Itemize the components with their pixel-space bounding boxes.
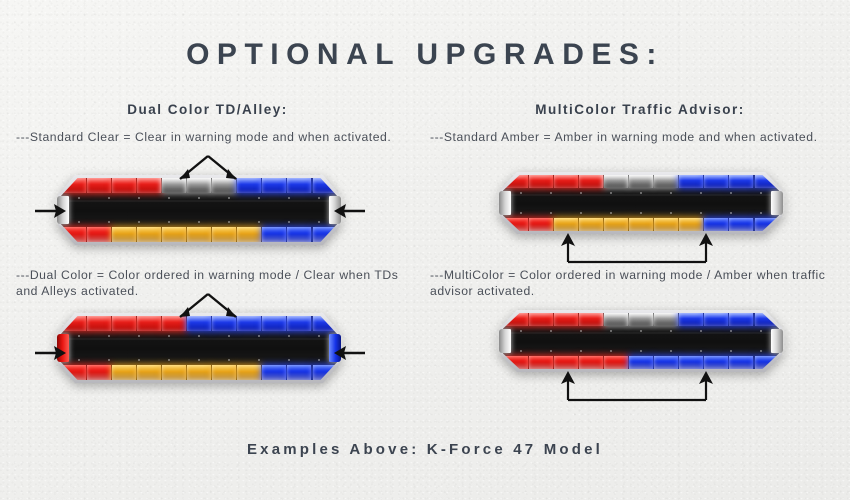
led-module-blue (679, 175, 703, 188)
led-module-blue (287, 365, 311, 380)
led-module-red (137, 316, 161, 331)
lightbar-graphic (58, 175, 340, 245)
led-module-blue (729, 356, 753, 369)
led-module-amber (237, 365, 261, 380)
led-module-clear (654, 175, 678, 188)
led-module-red (529, 175, 553, 188)
chevron-down-split-arrows-icon (168, 153, 248, 181)
lightbar-top-module-row (503, 175, 779, 188)
alley-light-end-cap-right (771, 329, 783, 354)
led-module-blue (729, 175, 753, 188)
led-module-red (529, 356, 553, 369)
led-module-blue (679, 356, 703, 369)
led-module-amber (187, 227, 211, 242)
led-module-amber (162, 365, 186, 380)
led-module-amber (112, 365, 136, 380)
led-module-amber (187, 365, 211, 380)
led-module-blue (729, 218, 753, 231)
multicolor-traffic-advisor-lightbar (500, 310, 782, 372)
led-module-blue (729, 313, 753, 326)
led-module-amber (162, 227, 186, 242)
led-module-clear (604, 175, 628, 188)
led-module-amber (679, 218, 703, 231)
bracket-up-arrows-icon (556, 370, 718, 402)
led-module-blue (704, 356, 728, 369)
bracket-up-arrows-icon (556, 232, 718, 264)
column-heading-dual-color: Dual Color TD/Alley: (30, 102, 385, 117)
led-module-red (579, 175, 603, 188)
lightbar-bottom-module-row (503, 356, 779, 369)
led-module-amber (579, 218, 603, 231)
led-module-amber (654, 218, 678, 231)
led-module-red (87, 178, 111, 193)
led-module-blue (629, 356, 653, 369)
led-module-red (554, 313, 578, 326)
lightbar-bottom-module-row (61, 227, 337, 242)
led-module-red (112, 316, 136, 331)
led-module-blue (262, 178, 286, 193)
led-module-blue (262, 365, 286, 380)
led-module-clear (629, 313, 653, 326)
alley-light-end-cap-left (499, 329, 511, 354)
chevron-down-split-arrows-icon (168, 291, 248, 319)
page-title: OPTIONAL UPGRADES: (0, 38, 850, 72)
led-module-blue (679, 313, 703, 326)
led-module-red (604, 356, 628, 369)
lightbar-top-module-row (503, 313, 779, 326)
led-module-amber (112, 227, 136, 242)
caption-standard-amber: ---Standard Amber = Amber in warning mod… (430, 129, 838, 145)
led-module-red (87, 365, 111, 380)
arrow-left-icon (332, 342, 366, 364)
led-module-clear (629, 175, 653, 188)
led-module-amber (137, 227, 161, 242)
led-module-red (87, 227, 111, 242)
led-module-amber (237, 227, 261, 242)
led-module-blue (287, 178, 311, 193)
caption-multicolor: ---MultiColor = Color ordered in warning… (430, 267, 842, 299)
led-module-amber (629, 218, 653, 231)
led-module-red (529, 313, 553, 326)
alley-light-end-cap-left (499, 191, 511, 216)
arrow-left-icon (332, 200, 366, 222)
lightbar-bottom-module-row (503, 218, 779, 231)
led-module-blue (287, 227, 311, 242)
led-module-clear (604, 313, 628, 326)
led-module-blue (704, 175, 728, 188)
led-module-red (112, 178, 136, 193)
led-module-red (87, 316, 111, 331)
lightbar-lens-housing (61, 178, 337, 242)
upgrades-infographic: OPTIONAL UPGRADES: Dual Color TD/Alley: … (0, 0, 850, 500)
led-module-blue (704, 313, 728, 326)
lightbar-graphic (500, 310, 782, 372)
lightbar-graphic (500, 172, 782, 234)
led-module-blue (654, 356, 678, 369)
lightbar-bottom-module-row (61, 365, 337, 380)
led-module-amber (212, 227, 236, 242)
lightbar-lens-housing (61, 316, 337, 380)
arrow-right-icon (34, 200, 68, 222)
led-module-blue (262, 316, 286, 331)
led-module-blue (262, 227, 286, 242)
arrow-right-icon (34, 342, 68, 364)
led-module-red (579, 313, 603, 326)
led-module-red (529, 218, 553, 231)
led-module-amber (137, 365, 161, 380)
led-module-clear (654, 313, 678, 326)
led-module-red (579, 356, 603, 369)
led-module-red (554, 175, 578, 188)
alley-light-end-cap-right (771, 191, 783, 216)
footer-caption: Examples Above: K-Force 47 Model (0, 441, 850, 458)
lightbar-lens-housing (503, 313, 779, 369)
led-module-blue (287, 316, 311, 331)
led-module-red (137, 178, 161, 193)
led-module-amber (554, 218, 578, 231)
standard-amber-traffic-advisor-lightbar (500, 172, 782, 234)
led-module-red (554, 356, 578, 369)
led-module-blue (704, 218, 728, 231)
led-module-amber (212, 365, 236, 380)
lightbar-lens-housing (503, 175, 779, 231)
standard-clear-td-alley-lightbar (58, 175, 340, 245)
led-module-amber (604, 218, 628, 231)
lightbar-graphic (58, 313, 340, 383)
column-heading-multicolor: MultiColor Traffic Advisor: (450, 102, 830, 117)
caption-standard-clear: ---Standard Clear = Clear in warning mod… (16, 129, 416, 145)
dual-color-td-alley-lightbar (58, 313, 340, 383)
